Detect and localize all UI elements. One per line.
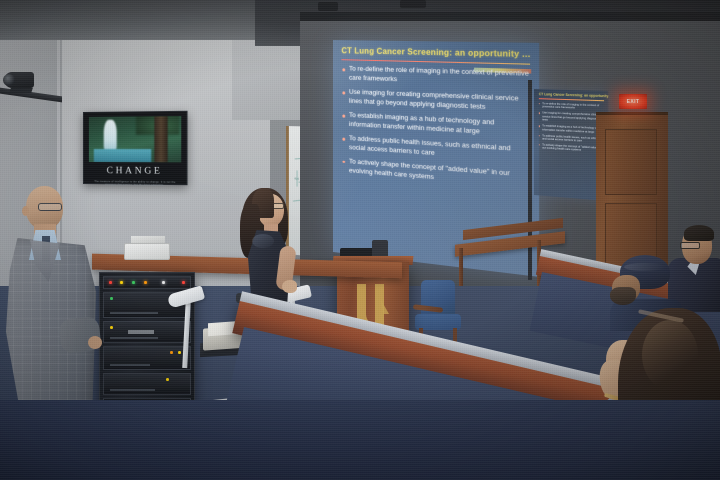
- poster-image-waterfall: [89, 116, 181, 162]
- shoulder-highlight: [252, 234, 274, 248]
- poster-title: CHANGE: [89, 167, 181, 177]
- secondary-slide-bullet: Use imaging for creating comprehensive c…: [539, 111, 604, 124]
- slide-bullet: Use imaging for creating comprehensive c…: [341, 89, 530, 116]
- led-indicator: [144, 281, 147, 284]
- secondary-slide-bullet: To address public health issues, such as…: [539, 134, 604, 145]
- foreground-floor: [0, 400, 720, 480]
- secondary-slide-rule: [539, 98, 604, 101]
- camera-mount-bracket: [9, 88, 33, 93]
- slide-bullet-list: To re-define the role of imaging in the …: [341, 66, 530, 191]
- ear: [22, 206, 29, 216]
- hair-highlight: [642, 320, 698, 390]
- poster-pool: [94, 149, 151, 163]
- ceiling-speaker: [318, 2, 338, 11]
- rack-unit-patchbay[interactable]: [103, 276, 191, 289]
- led-indicator: [170, 351, 173, 354]
- rack-unit-dvd-player[interactable]: [103, 321, 191, 343]
- hair: [684, 225, 714, 241]
- led-indicator: [182, 281, 185, 284]
- secondary-slide-bullet-list: To re-define the role of imaging in the …: [539, 102, 604, 154]
- screen-mount-rail: [300, 12, 720, 21]
- led-indicator: [166, 378, 169, 381]
- beard: [610, 287, 636, 305]
- led-indicator: [132, 281, 135, 284]
- poster-tree-trunk: [154, 116, 168, 162]
- door-panel-upper: [605, 129, 657, 195]
- led-indicator: [178, 351, 181, 354]
- white-equipment-box: [124, 243, 170, 260]
- rack-unit-switcher[interactable]: [103, 373, 191, 395]
- secondary-slide-bullet: To actively shape the concept of "added …: [539, 143, 604, 154]
- slide-title-rule: [341, 59, 530, 65]
- secondary-slide-bullet: To re-define the role of imaging in the …: [539, 102, 604, 111]
- slide-bullet: To re-define the role of imaging in the …: [341, 66, 530, 91]
- wall-art-poster: CHANGE The measure of intelligence is th…: [83, 111, 188, 185]
- eyeglasses-icon: [680, 242, 700, 249]
- led-indicator: [110, 297, 113, 300]
- ceiling-vent: [400, 0, 426, 8]
- lecture-hall-photo: CHANGE The measure of intelligence is th…: [0, 0, 720, 480]
- led-indicator: [110, 326, 113, 329]
- secondary-screen-frame: [528, 80, 532, 280]
- turban-wrap-highlight: [624, 263, 666, 271]
- poster-waterfall: [104, 119, 117, 152]
- hand: [282, 280, 297, 293]
- hand: [88, 336, 102, 349]
- camera-lens-icon: [3, 74, 15, 86]
- secondary-slide-bullet: To establish imaging as a hub of technol…: [539, 124, 604, 134]
- led-indicator: [109, 281, 112, 284]
- rack-unit-vcr[interactable]: [103, 346, 191, 370]
- exit-sign: EXIT: [619, 94, 647, 109]
- led-indicator: [120, 281, 123, 284]
- slide-title: CT Lung Cancer Screening: an opportunity…: [341, 47, 530, 60]
- eyeglasses-icon: [38, 203, 62, 211]
- exit-sign-label: EXIT: [627, 99, 640, 105]
- led-indicator: [162, 281, 165, 284]
